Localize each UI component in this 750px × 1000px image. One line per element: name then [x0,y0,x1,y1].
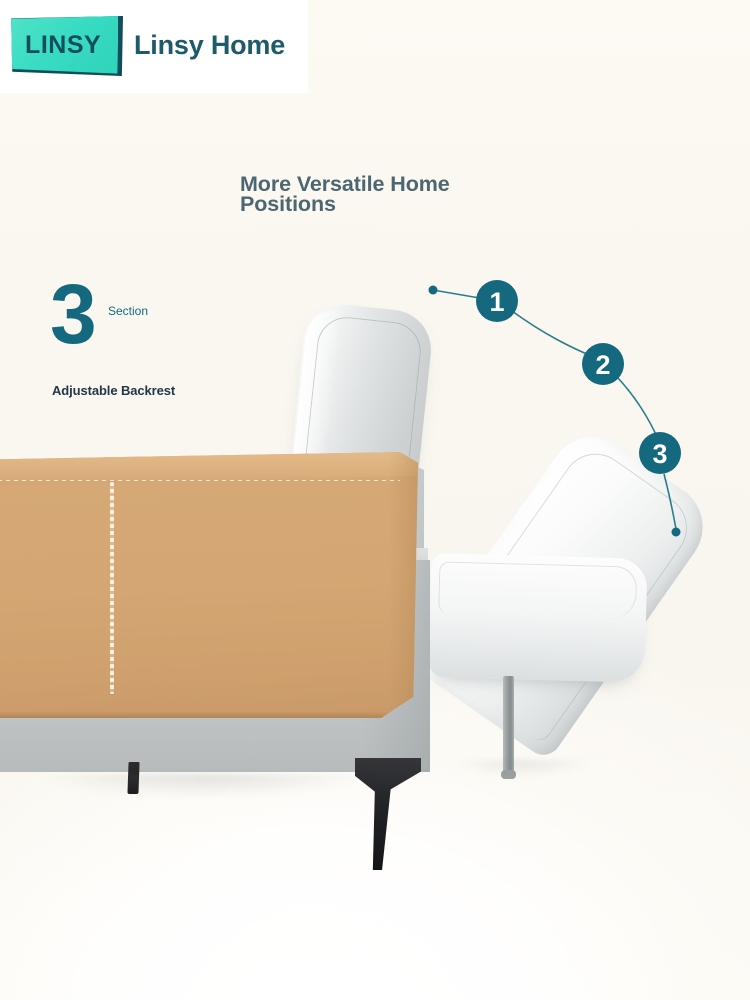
stat-unit-label: Section [108,304,148,318]
stat-caption: Adjustable Backrest [52,383,175,398]
throw-edge-shade [388,452,418,718]
tan-throw-blanket [0,452,418,718]
rear-seat-cushion [428,553,647,683]
furniture-scene [0,0,750,1000]
stat-row: 3 Section [50,278,270,360]
linsy-parallelogram-logo[interactable]: LINSY [10,16,123,76]
stat-block: 3 Section Adjustable Backrest [50,278,270,360]
throw-horizontal-stitch [0,480,400,481]
front-contact-shadow [0,774,440,808]
chrome-leg [503,676,514,772]
page-headline: More Versatile Home Positions [240,174,540,214]
throw-hem [0,712,418,718]
throw-vertical-stitch [110,482,114,694]
stat-number: 3 [50,272,94,356]
brand-name: Linsy Home [134,30,285,61]
header-band: LINSY Linsy Home [0,0,308,93]
promo-page: 1 2 3 More Versatile Home Positions 3 Se… [0,0,750,1000]
logo-wordmark: LINSY [10,31,116,60]
rear-contact-shadow [438,760,638,786]
